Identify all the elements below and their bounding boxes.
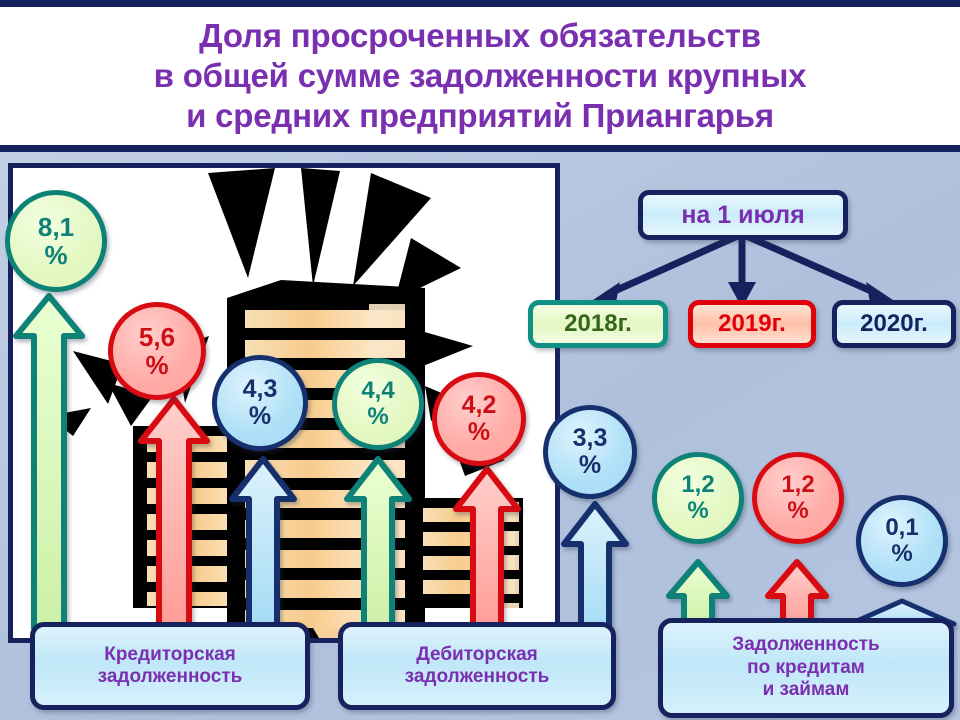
bubble-value: 1,2	[781, 473, 814, 497]
bubble-value: 4,3	[243, 377, 278, 402]
value-bubble-8-1: 8,1 %	[5, 190, 107, 292]
bubble-value: 0,1	[885, 516, 918, 540]
bubble-unit: %	[468, 420, 490, 445]
bubble-value: 1,2	[681, 473, 714, 497]
bubble-value: 3,3	[573, 426, 608, 451]
infographic-root: Доля просроченных обязательств в общей с…	[0, 0, 960, 720]
value-bubble-3-3: 3,3 %	[543, 405, 637, 499]
legend-chip-2020[interactable]: 2020г.	[832, 300, 956, 348]
legend-chip-2019[interactable]: 2019г.	[688, 300, 816, 348]
bubble-value: 5,6	[139, 324, 175, 350]
value-bubble-1-2-green: 1,2 %	[652, 452, 744, 544]
value-bubble-0-1: 0,1 %	[856, 495, 948, 587]
caption-label: Кредиторская задолженность	[98, 644, 243, 689]
bubble-unit: %	[44, 242, 67, 268]
arrow-up-debitorskaya-2018	[343, 455, 413, 635]
arrow-up-kreditorskaya-2018	[12, 292, 86, 632]
bubble-unit: %	[579, 453, 601, 478]
caption-debitorskaya[interactable]: Дебиторская задолженность	[338, 622, 616, 710]
bubble-unit: %	[787, 499, 808, 523]
bubble-value: 8,1	[38, 214, 74, 240]
arrow-up-debitorskaya-2019	[452, 465, 522, 637]
value-bubble-5-6: 5,6 %	[108, 302, 206, 400]
bubble-unit: %	[367, 405, 388, 429]
legend-header-label: на 1 июля	[681, 201, 804, 230]
legend-header-chip[interactable]: на 1 июля	[638, 190, 848, 240]
legend-chip-2018[interactable]: 2018г.	[528, 300, 668, 348]
legend-chip-label: 2020г.	[860, 310, 928, 338]
legend-chip-label: 2018г.	[564, 310, 632, 338]
arrow-up-debitorskaya-2020	[560, 500, 630, 638]
bubble-unit: %	[687, 499, 708, 523]
caption-label: Задолженность по кредитам и займам	[732, 634, 879, 701]
value-bubble-4-3: 4,3 %	[212, 355, 308, 451]
value-bubble-1-2-red: 1,2 %	[752, 452, 844, 544]
arrow-up-kreditorskaya-2020	[228, 455, 298, 635]
bubble-unit: %	[891, 542, 912, 566]
bubble-value: 4,4	[361, 379, 394, 403]
caption-kreditorskaya[interactable]: Кредиторская задолженность	[30, 622, 310, 710]
bubble-value: 4,2	[462, 393, 497, 418]
bubble-unit: %	[249, 404, 271, 429]
header-banner: Доля просроченных обязательств в общей с…	[0, 0, 960, 152]
page-title: Доля просроченных обязательств в общей с…	[154, 16, 807, 137]
arrow-up-kreditorskaya-2019	[137, 395, 211, 635]
caption-krediti[interactable]: Задолженность по кредитам и займам	[658, 618, 954, 718]
bubble-unit: %	[145, 352, 168, 378]
value-bubble-4-4: 4,4 %	[332, 358, 424, 450]
value-bubble-4-2: 4,2 %	[432, 372, 526, 466]
legend-chip-label: 2019г.	[718, 310, 786, 338]
caption-label: Дебиторская задолженность	[405, 644, 550, 689]
